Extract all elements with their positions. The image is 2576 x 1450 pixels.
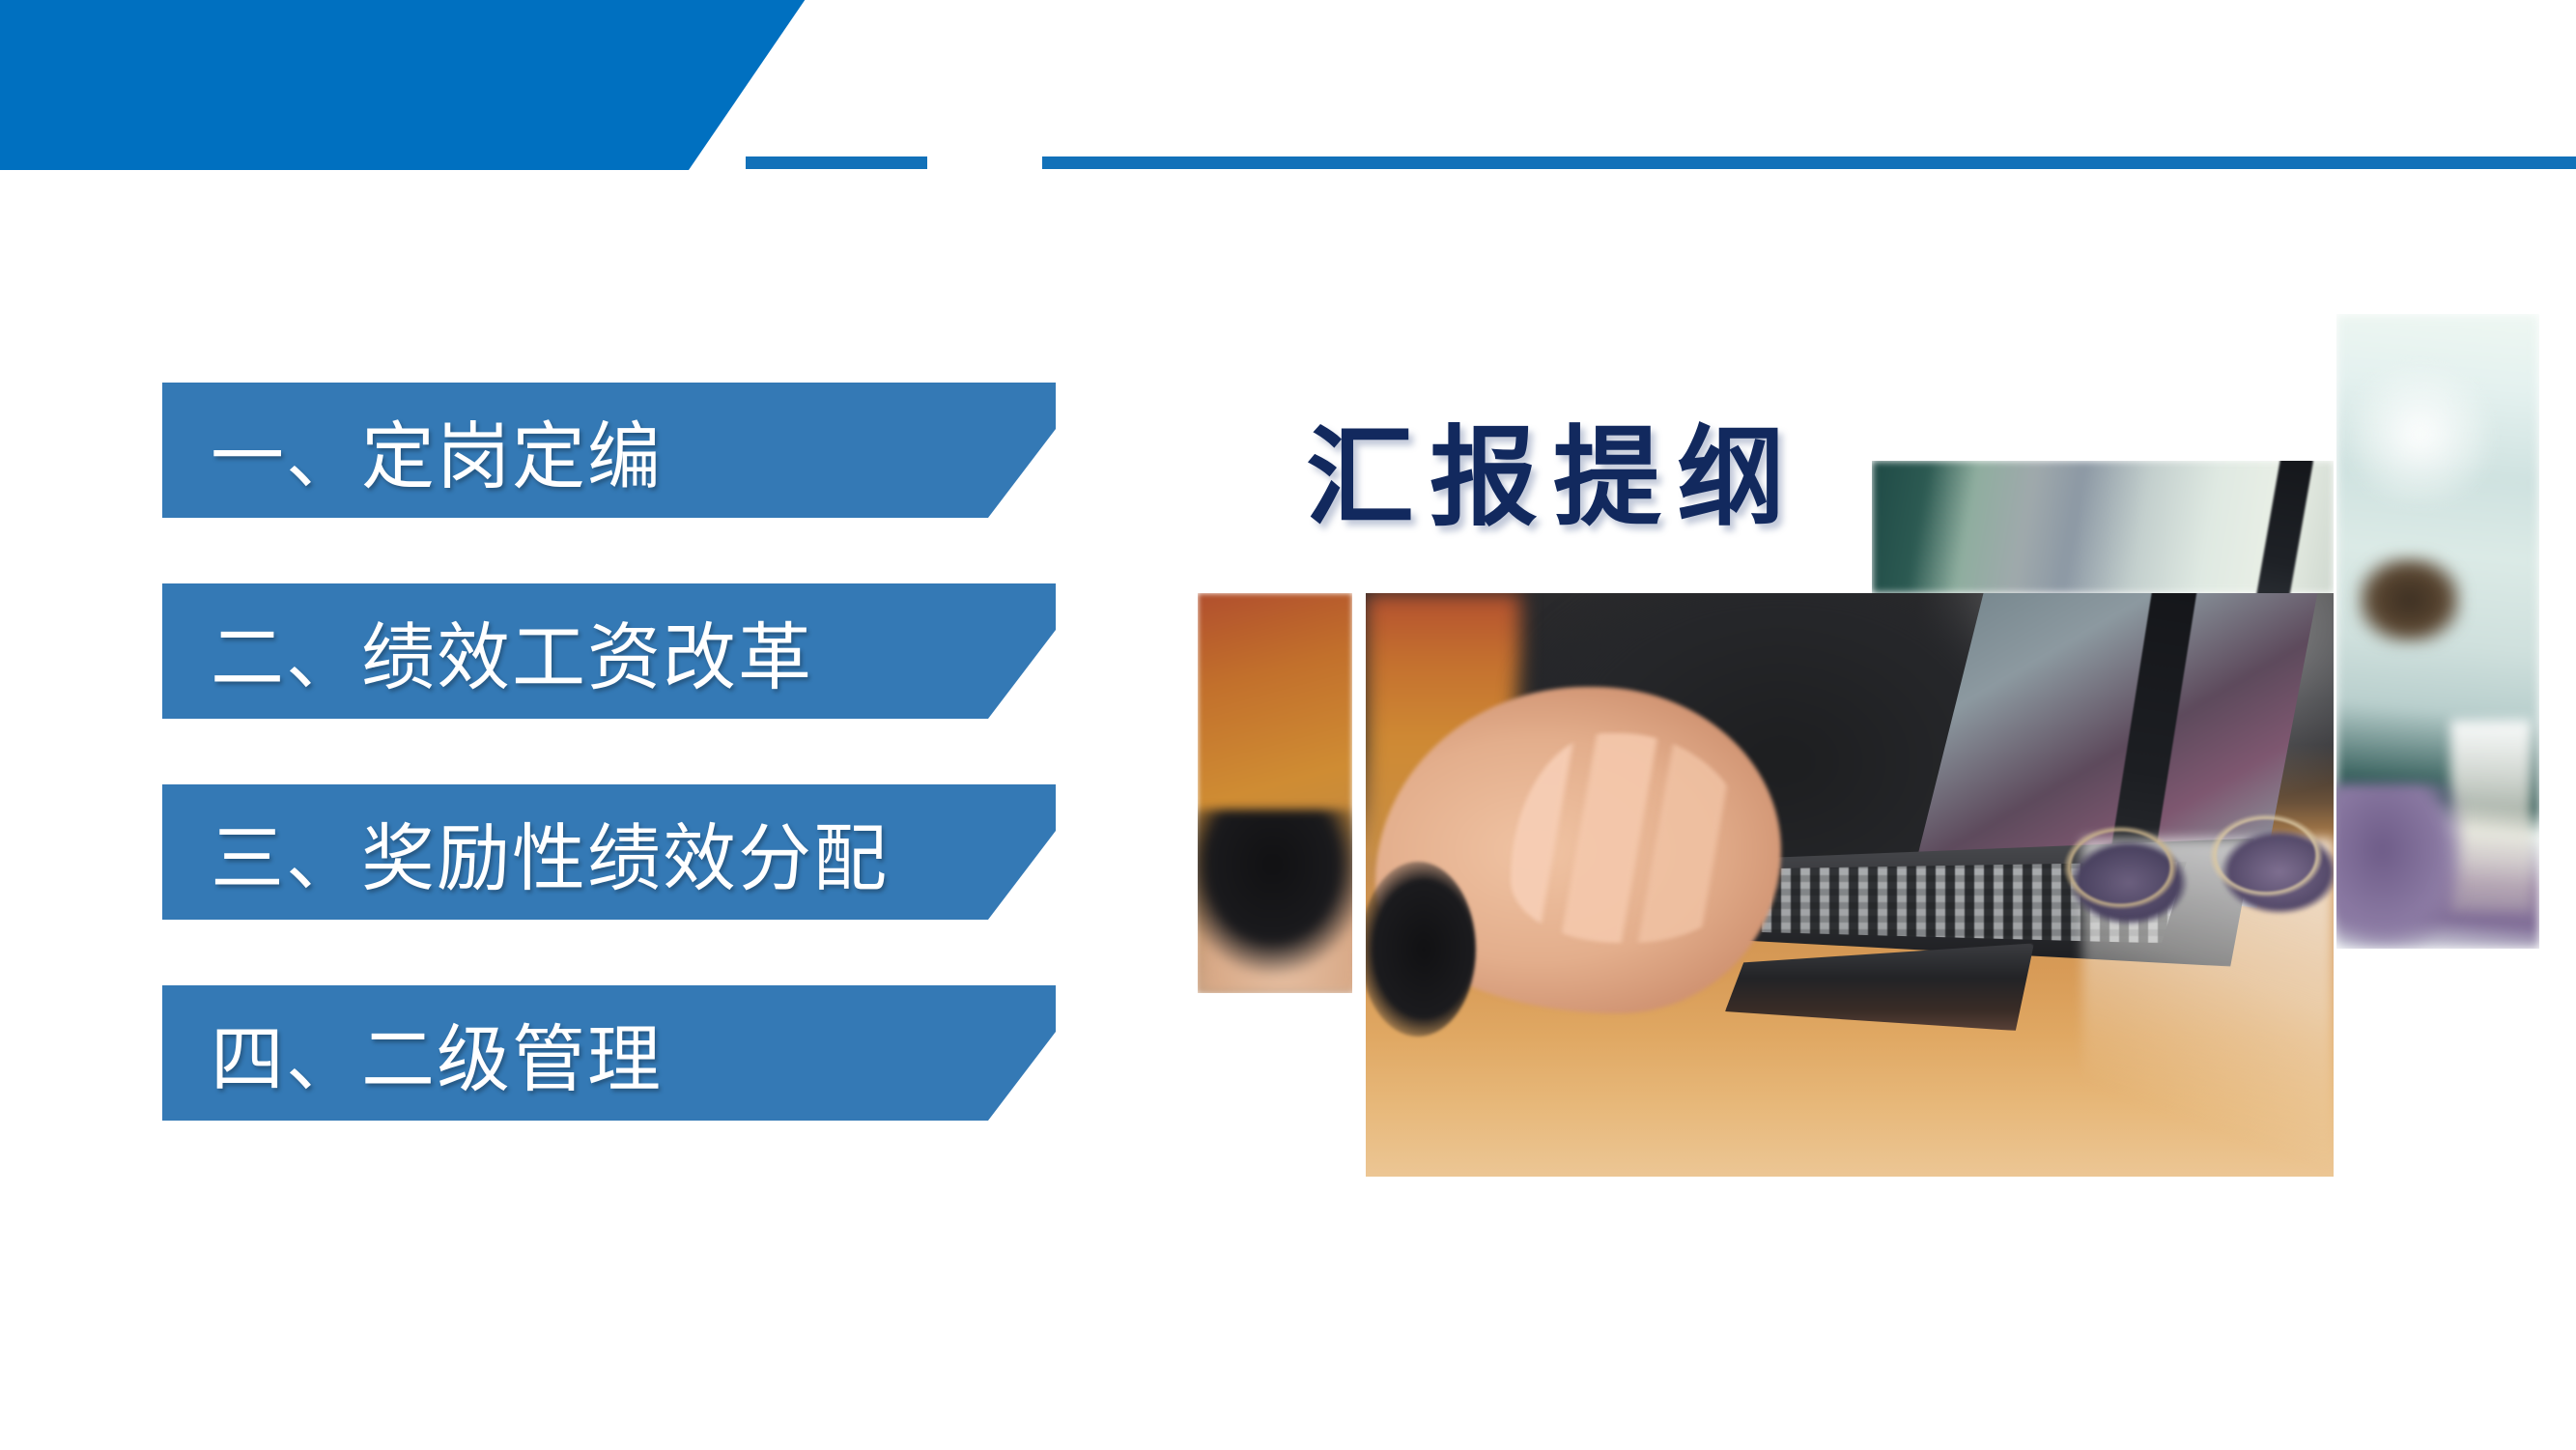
agenda-item-4[interactable]: 四、二级管理	[162, 985, 1061, 1121]
agenda-item-1-label: 一、定岗定编	[211, 383, 663, 518]
agenda-item-2[interactable]: 二、绩效工资改革	[162, 583, 1061, 719]
agenda-item-3[interactable]: 三、奖励性绩效分配	[162, 784, 1061, 920]
page-title: 汇报提纲	[1306, 390, 1800, 547]
agenda-item-4-label: 四、二级管理	[211, 985, 663, 1121]
agenda-item-1[interactable]: 一、定岗定编	[162, 383, 1061, 518]
photo-warm-blurred-strip	[1198, 593, 1352, 993]
agenda-item-2-label: 二、绩效工资改革	[211, 583, 813, 719]
photo-bokeh-cafe-strip	[2336, 314, 2539, 949]
agenda-item-3-label: 三、奖励性绩效分配	[211, 784, 889, 920]
agenda-menu: 一、定岗定编 二、绩效工资改革 三、奖励性绩效分配 四、二级管理	[162, 383, 1061, 1121]
header-long-rule	[1042, 156, 2576, 169]
header-angled-banner	[0, 0, 807, 170]
photo-hands-typing-on-laptop	[1366, 593, 2334, 1177]
photo-laptop-edge-tile	[1872, 461, 2334, 593]
header-short-rule	[746, 156, 927, 169]
slide-canvas: 汇报提纲 一、定岗定编 二、绩效工资改革 三、奖励性绩效分配 四、二级管理	[0, 0, 2576, 1450]
